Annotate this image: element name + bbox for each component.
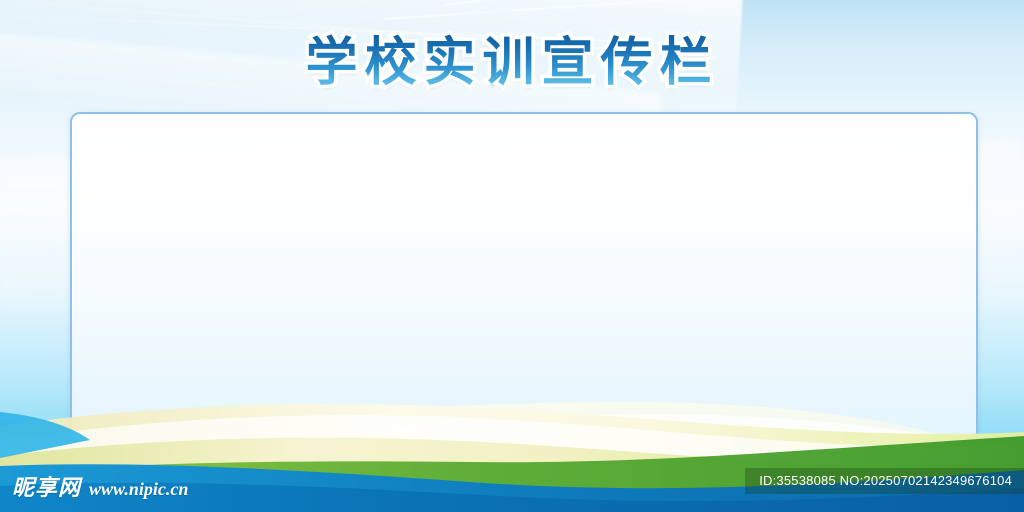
- poster-title-area: 学校实训宣传栏 学校实训宣传栏: [0, 34, 1024, 92]
- light-ray-icon-c: [384, 0, 1024, 20]
- page-title-outline: 学校实训宣传栏: [305, 34, 718, 92]
- light-ray-icon-a: [0, 12, 699, 46]
- watermark: 昵享网 www.nipic.cn: [12, 470, 188, 502]
- image-id-band: ID:35538085 NO:20250702142349676104: [745, 468, 1024, 494]
- light-ray-icon-d: [444, 0, 1024, 6]
- page-title-fill: 学校实训宣传栏: [305, 33, 718, 93]
- watermark-url-text: www.nipic.cn: [89, 479, 188, 500]
- watermark-logo-text: 昵享网: [12, 470, 81, 502]
- page-title: 学校实训宣传栏 学校实训宣传栏: [305, 34, 718, 92]
- content-panel[interactable]: [70, 112, 978, 460]
- poster-canvas: 学校实训宣传栏 学校实训宣传栏: [0, 0, 1024, 512]
- light-ray-icon-b: [0, 0, 718, 60]
